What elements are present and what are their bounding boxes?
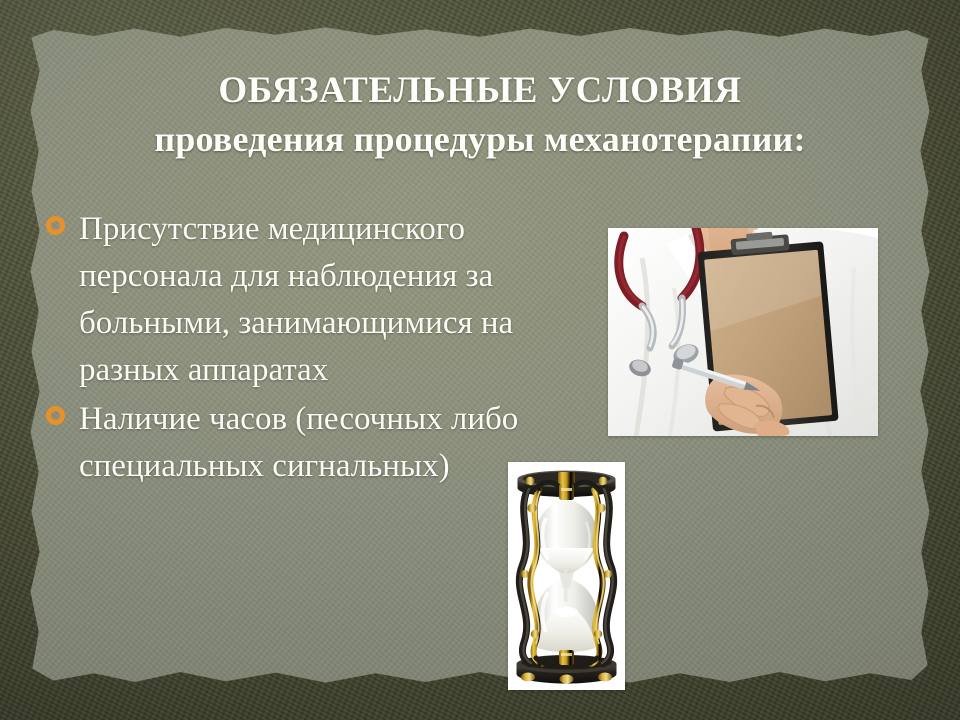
doctor-with-clipboard-photo <box>608 228 878 436</box>
doctor-illustration <box>608 228 878 436</box>
doctor-photo-canvas <box>608 228 878 436</box>
presentation-slide: ОБЯЗАТЕЛЬНЫЕ УСЛОВИЯ проведения процедур… <box>0 0 960 720</box>
list-item: Присутствие медицинского персонала для н… <box>44 206 564 394</box>
list-item: Наличие часов (песочных либо специальных… <box>44 396 564 490</box>
hourglass-photo <box>508 462 625 690</box>
bullet-list: Присутствие медицинского персонала для н… <box>44 206 564 492</box>
list-item-text: Наличие часов (песочных либо специальных… <box>79 396 564 490</box>
list-item-text: Присутствие медицинского персонала для н… <box>79 206 564 394</box>
ring-bullet-icon <box>46 406 65 425</box>
hourglass-illustration <box>508 462 625 690</box>
ring-bullet-icon <box>46 216 65 235</box>
